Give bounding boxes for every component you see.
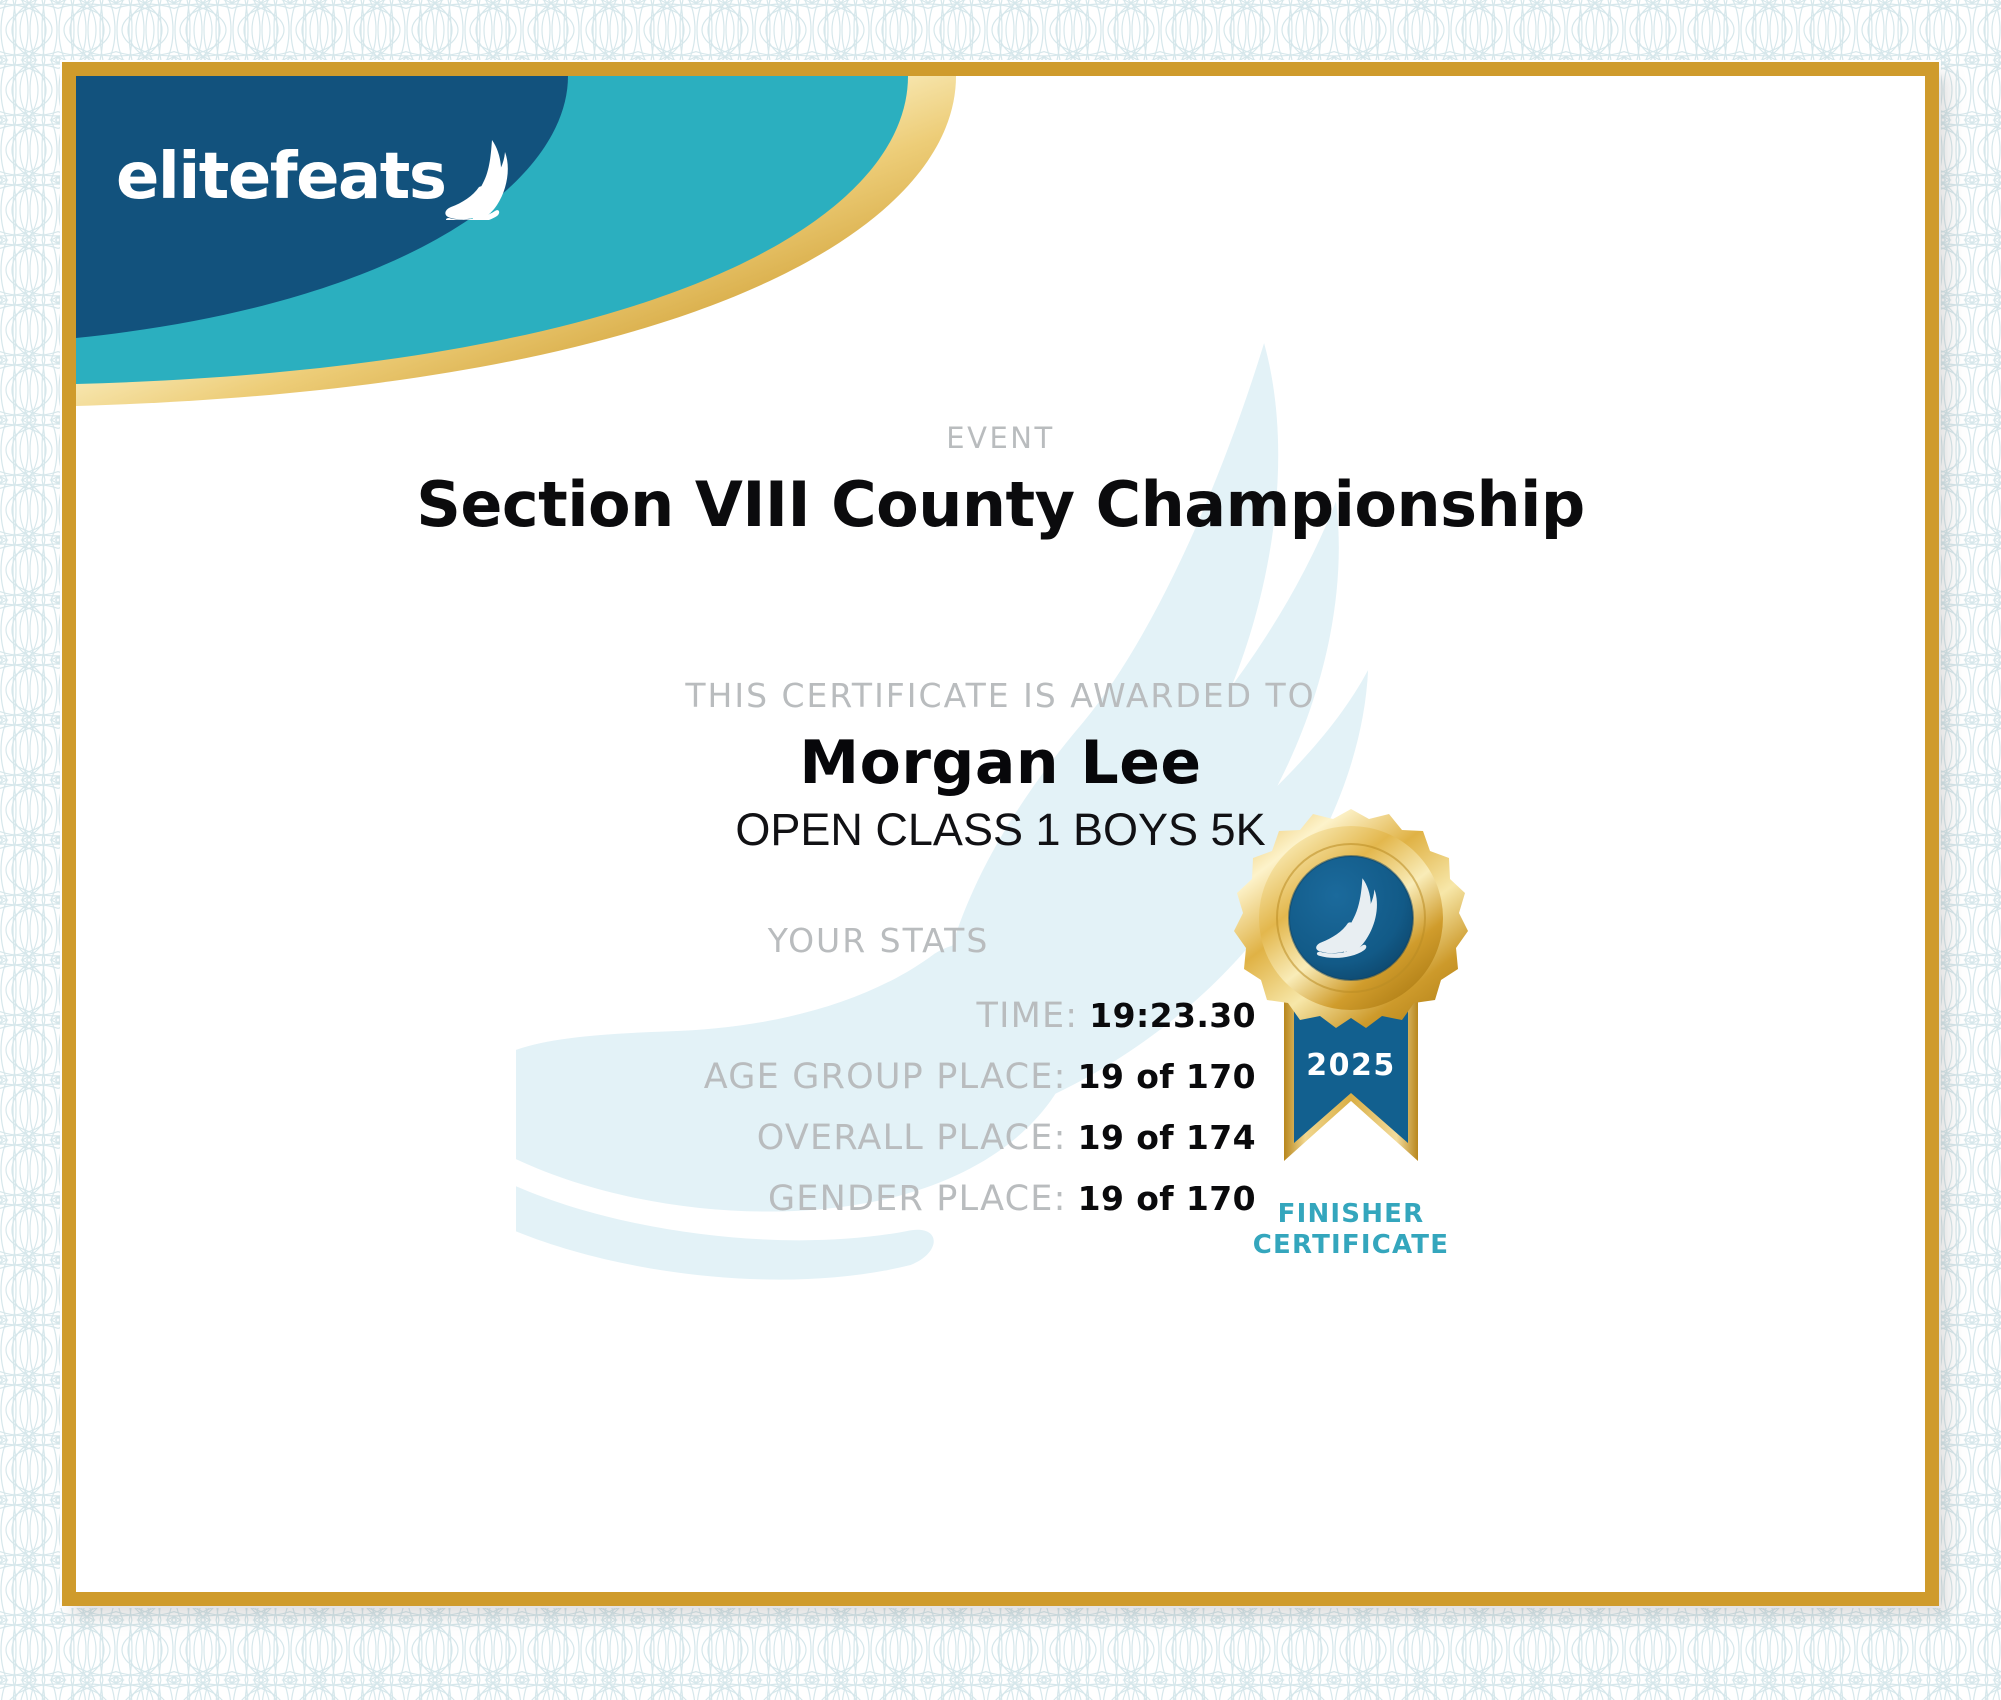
winged-foot-icon <box>445 138 519 220</box>
certificate-page: elitefeats EVENT Section VIII County Cha… <box>0 0 2001 1700</box>
stat-label-age-group-place: AGE GROUP PLACE: <box>704 1057 1067 1097</box>
stat-label-time: TIME: <box>976 996 1078 1036</box>
gold-border-frame: elitefeats EVENT Section VIII County Cha… <box>62 62 1939 1606</box>
brand-wordmark: elitefeats <box>116 145 445 209</box>
finisher-seal: 2025 <box>1206 801 1496 1231</box>
awarded-to-label: THIS CERTIFICATE IS AWARDED TO <box>76 676 1925 715</box>
stats-list: TIME: 19:23.30 AGE GROUP PLACE: 19 of 17… <box>76 996 1256 1240</box>
event-label: EVENT <box>76 421 1925 455</box>
brand-logo: elitefeats <box>116 134 519 220</box>
recipient-name: Morgan Lee <box>76 728 1925 798</box>
race-class: OPEN CLASS 1 BOYS 5K <box>76 804 1925 856</box>
stat-row: AGE GROUP PLACE: 19 of 170 <box>76 1057 1256 1097</box>
medal-badge-icon: 2025 <box>1206 801 1496 1201</box>
seal-caption-line1: FINISHER <box>1206 1199 1496 1230</box>
stat-row: OVERALL PLACE: 19 of 174 <box>76 1118 1256 1158</box>
certificate-sheet: elitefeats EVENT Section VIII County Cha… <box>76 76 1925 1592</box>
event-title: Section VIII County Championship <box>76 468 1925 541</box>
seal-year: 2025 <box>1306 1048 1396 1083</box>
your-stats-label: YOUR STATS <box>76 921 1803 960</box>
stat-label-overall-place: OVERALL PLACE: <box>757 1118 1067 1158</box>
medal-disc <box>1234 809 1468 1028</box>
stat-row: GENDER PLACE: 19 of 170 <box>76 1179 1256 1219</box>
stat-label-gender-place: GENDER PLACE: <box>768 1179 1067 1219</box>
stat-row: TIME: 19:23.30 <box>76 996 1256 1036</box>
seal-caption-line2: CERTIFICATE <box>1206 1230 1496 1261</box>
seal-caption: FINISHER CERTIFICATE <box>1206 1199 1496 1260</box>
certificate-content: EVENT Section VIII County Championship T… <box>76 76 1925 1592</box>
